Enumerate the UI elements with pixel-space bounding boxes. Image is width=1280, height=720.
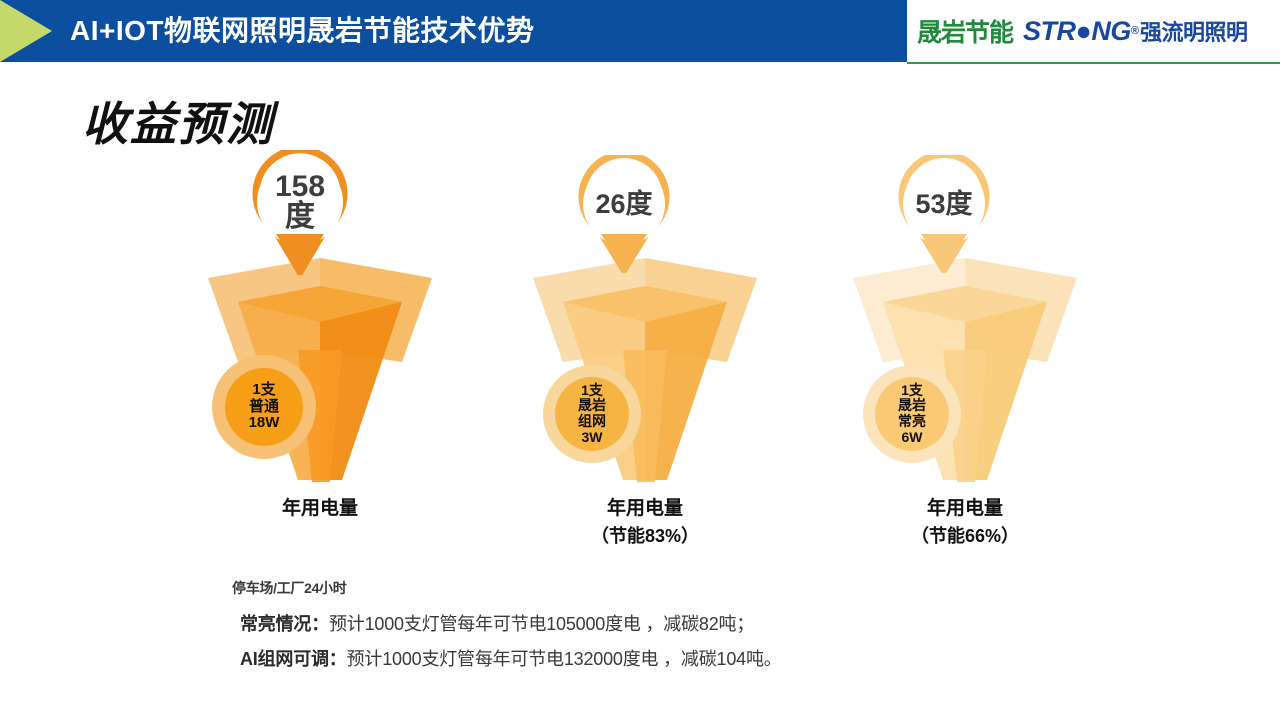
note-line-1-lead: 常亮情况： <box>240 614 329 634</box>
funnel-label-1: 年用电量 <box>190 495 450 523</box>
badge-inner-2: 1支 晟岩 组网 3W <box>555 377 629 451</box>
pin-label-3: 53度 <box>892 155 996 253</box>
note-line-2: AI组网可调：预计1000支灯管每年可节电132000度电 ，减碳104吨。 <box>240 645 1132 671</box>
badge-inner-1: 1支 普通 18W <box>225 368 303 446</box>
pin-marker-2: 26度 <box>572 155 676 273</box>
pin-marker-1: 158 度 <box>245 150 355 275</box>
badge-inner-3: 1支 晟岩 常亮 6W <box>875 377 949 451</box>
funnel-label-3: 年用电量 （节能66%） <box>835 495 1095 549</box>
badge-2: 1支 晟岩 组网 3W <box>543 365 641 463</box>
badge-line-1-0: 1支 <box>252 382 275 399</box>
badge-line-3-2: 常亮 <box>898 414 926 430</box>
funnel-group-2: 26度 1支 晟岩 组网 3W 年用电量 （节能83%） <box>515 150 775 570</box>
footnotes: 停车场/工厂24小时 常亮情况：预计1000支灯管每年可节电105000度电 ，… <box>232 578 1132 680</box>
badge-line-2-1: 晟岩 <box>578 398 606 414</box>
pin-value-2: 26度 <box>595 191 652 218</box>
funnel-group-3: 53度 1支 晟岩 常亮 6W 年用电量 （节能66%） <box>835 150 1095 570</box>
funnel-label-sub-2: （节能83%） <box>515 523 775 549</box>
badge-line-3-3: 6W <box>902 430 923 446</box>
badge-line-1-2: 18W <box>249 415 280 432</box>
note-line-2-text: 预计1000支灯管每年可节电132000度电 ，减碳104吨。 <box>347 649 782 669</box>
funnel-label-2: 年用电量 （节能83%） <box>515 495 775 549</box>
funnel-group-1: 158 度 1支 普通 18W 年用电量 <box>190 150 450 570</box>
note-line-2-lead: AI组网可调： <box>240 649 347 669</box>
pin-value-1: 158 <box>275 172 325 202</box>
note-line-1-text: 预计1000支灯管每年可节电105000度电 ，减碳82吨； <box>329 614 754 634</box>
brand-logo-panel: 晟岩节能 STR ● NG ® 强流明照明 LM <box>907 0 1280 64</box>
logo-strong-text: STR <box>1023 16 1076 47</box>
pin-marker-3: 53度 <box>892 155 996 273</box>
badge-3: 1支 晟岩 常亮 6W <box>863 365 961 463</box>
logo-company-name-cn: 晟岩节能 <box>917 13 1013 49</box>
funnel-label-sub-3: （节能66%） <box>835 523 1095 549</box>
badge-line-3-1: 晟岩 <box>898 398 926 414</box>
page-title: 收益预测 <box>82 88 274 154</box>
page-header: AI+IOT物联网照明晟岩节能技术优势 晟岩节能 STR ● NG ® 强流明照… <box>0 0 1280 64</box>
pin-label-1: 158 度 <box>245 150 355 254</box>
logo-strong-text-tail: NG <box>1091 16 1131 47</box>
pin-label-2: 26度 <box>572 155 676 253</box>
badge-line-2-2: 组网 <box>578 414 606 430</box>
funnel-label-main-3: 年用电量 <box>927 498 1003 519</box>
pin-value-3: 53度 <box>915 191 972 218</box>
logo-strong-wordmark: STR ● NG ® 强流明照明 <box>1023 15 1247 47</box>
header-title: AI+IOT物联网照明晟岩节能技术优势 <box>70 0 535 62</box>
badge-1: 1支 普通 18W <box>212 355 316 459</box>
note-line-1: 常亮情况：预计1000支灯管每年可节电105000度电 ，减碳82吨； <box>240 610 1132 636</box>
badge-line-2-0: 1支 <box>581 383 603 399</box>
logo-sub-name-cn: 强流明照明 <box>1140 15 1248 47</box>
pin-unit-1: 度 <box>285 202 315 232</box>
note-condition: 停车场/工厂24小时 <box>232 578 1132 598</box>
registered-trademark-icon: ® <box>1131 25 1139 37</box>
badge-line-1-1: 普通 <box>249 399 279 416</box>
funnel-label-main-2: 年用电量 <box>607 498 683 519</box>
badge-line-3-0: 1支 <box>901 383 923 399</box>
badge-line-2-3: 3W <box>582 430 603 446</box>
funnel-label-main-1: 年用电量 <box>282 498 358 519</box>
